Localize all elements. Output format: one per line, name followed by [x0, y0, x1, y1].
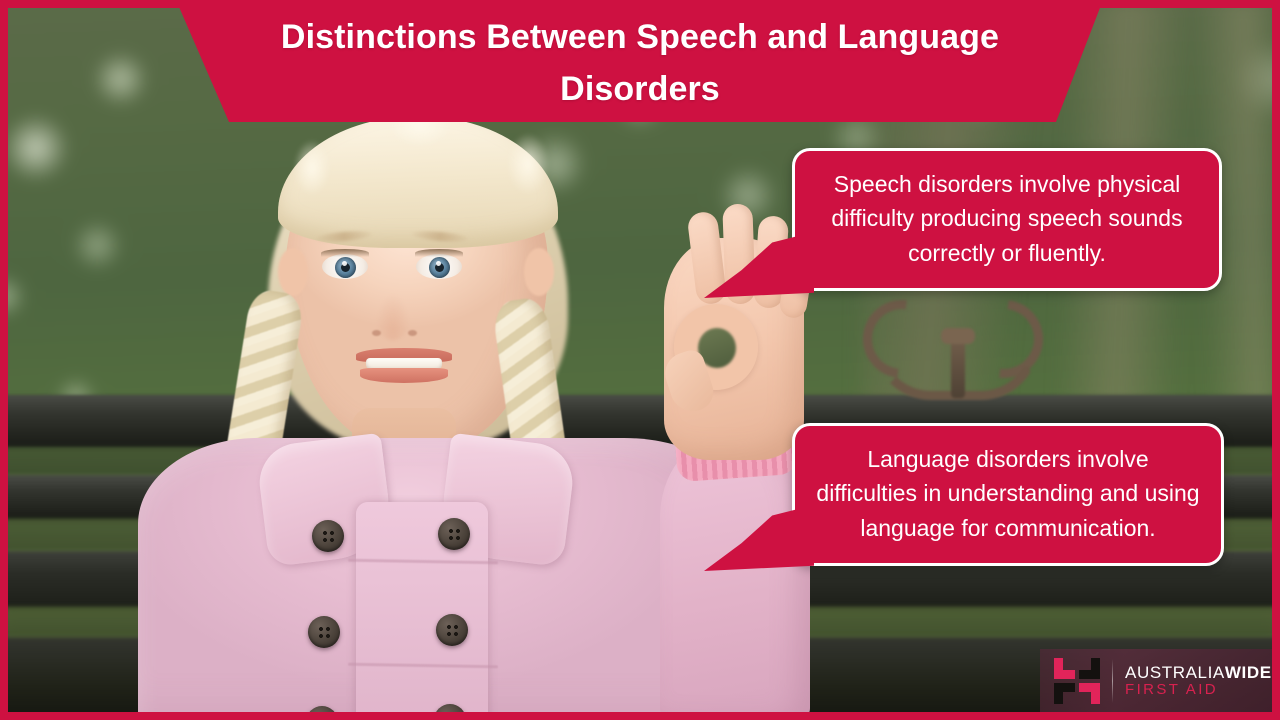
infographic-canvas: Distinctions Between Speech and Language… — [0, 0, 1280, 720]
logo-brand-light: AUSTRALIA — [1125, 663, 1225, 682]
cross-piece-bottom-left — [1054, 683, 1075, 704]
cross-piece-top-left — [1054, 658, 1075, 679]
eye-left — [322, 254, 368, 279]
logo-brand-name: AUSTRALIAWIDE — [1125, 664, 1272, 681]
ear-left — [278, 248, 308, 296]
logo-divider — [1112, 659, 1113, 703]
logo-brand-bold: WIDE — [1225, 663, 1272, 682]
coat-button — [308, 616, 340, 648]
raised-arm — [660, 438, 810, 720]
eyelash-right — [415, 249, 463, 257]
scroll-knot — [941, 328, 975, 344]
eye-right — [416, 254, 462, 279]
background-photo — [0, 0, 1280, 720]
coat-button — [438, 518, 470, 550]
logo-tagline: FIRST AID — [1125, 682, 1272, 697]
eye-glint — [436, 261, 441, 266]
mouth — [356, 348, 452, 382]
coat-button — [436, 614, 468, 646]
nostril-right — [408, 330, 417, 336]
cross-piece-bottom-right — [1079, 683, 1100, 704]
lower-lip — [360, 368, 448, 383]
language-disorders-callout: Language disorders involve difficulties … — [792, 423, 1224, 566]
ear-right — [524, 248, 554, 296]
speech-disorders-text: Speech disorders involve physical diffic… — [792, 148, 1222, 291]
nostril-left — [372, 330, 381, 336]
brand-logo[interactable]: AUSTRALIAWIDE FIRST AID — [1040, 649, 1272, 712]
australia-wide-cross-icon — [1054, 658, 1100, 704]
child-subject — [120, 108, 760, 720]
logo-wordmark: AUSTRALIAWIDE FIRST AID — [1125, 664, 1272, 698]
scroll-stem — [951, 336, 965, 398]
hair-wisps — [270, 112, 570, 208]
eyelash-left — [321, 249, 369, 257]
speech-disorders-callout: Speech disorders involve physical diffic… — [792, 148, 1222, 291]
iris — [335, 257, 356, 278]
cross-piece-top-right — [1079, 658, 1100, 679]
nose — [376, 294, 410, 340]
coat-button — [312, 520, 344, 552]
eye-glint — [342, 261, 347, 266]
bench-scrollwork-ornament — [855, 298, 1145, 403]
iris — [429, 257, 450, 278]
language-disorders-text: Language disorders involve difficulties … — [792, 423, 1224, 566]
